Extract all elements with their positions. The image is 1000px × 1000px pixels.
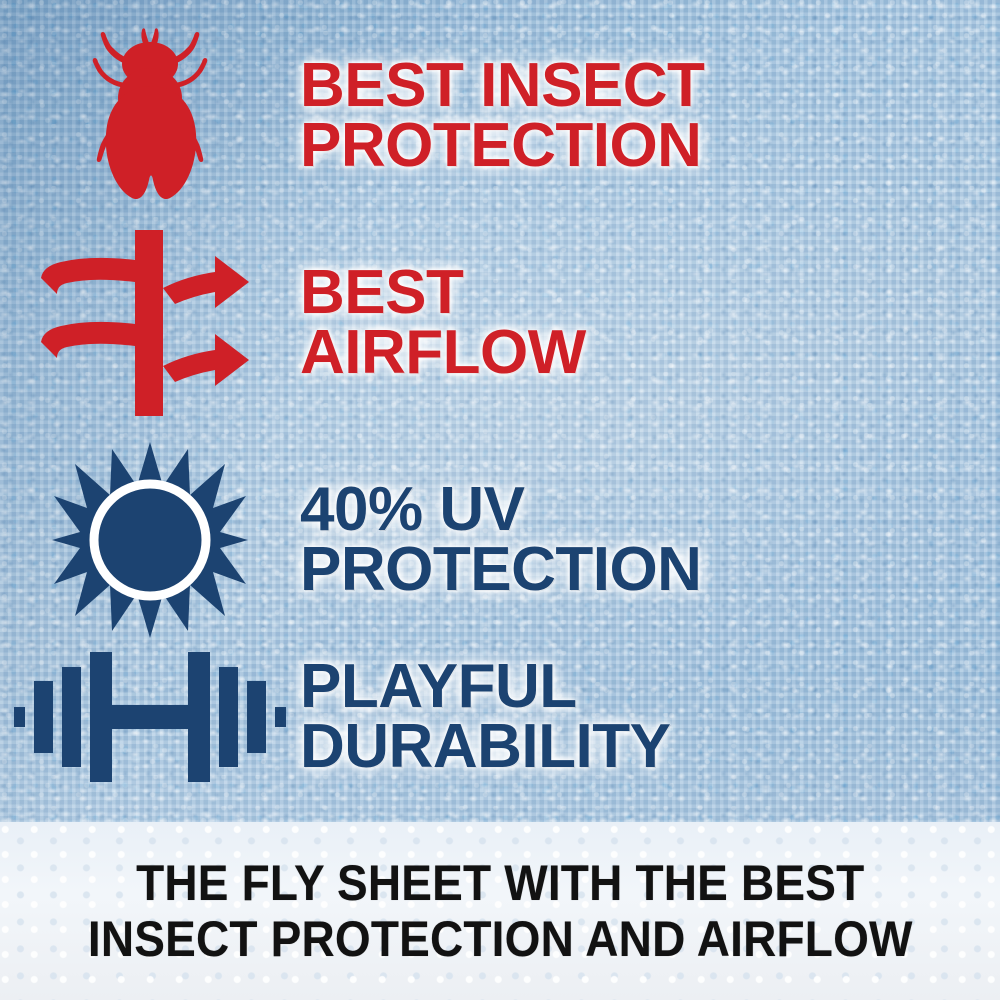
airflow-icon-slot — [0, 230, 300, 416]
feature-row-insect-protection: BEST INSECT PROTECTION — [0, 28, 900, 204]
feature-label-uv-protection: 40% UV PROTECTION — [300, 480, 701, 599]
product-feature-poster: BEST INSECT PROTECTION — [0, 0, 1000, 1000]
fly-icon — [84, 28, 216, 204]
fly-icon-slot — [0, 28, 300, 204]
feature-row-uv-protection: 40% UV PROTECTION — [0, 440, 900, 640]
feature-label-insect-protection: BEST INSECT PROTECTION — [300, 56, 704, 175]
feature-label-durability: PLAYFUL DURABILITY — [300, 657, 670, 776]
sun-uv-icon — [50, 440, 250, 640]
sun-uv-icon-slot — [0, 440, 300, 640]
caption-text: THE FLY SHEET WITH THE BEST INSECT PROTE… — [88, 855, 913, 967]
dumbbell-icon-slot — [0, 650, 300, 784]
airflow-icon — [35, 230, 265, 416]
caption-band: THE FLY SHEET WITH THE BEST INSECT PROTE… — [0, 822, 1000, 1000]
dumbbell-icon — [14, 650, 286, 784]
feature-row-airflow: BEST AIRFLOW — [0, 230, 900, 416]
feature-label-airflow: BEST AIRFLOW — [300, 263, 586, 382]
feature-row-durability: PLAYFUL DURABILITY — [0, 650, 900, 784]
